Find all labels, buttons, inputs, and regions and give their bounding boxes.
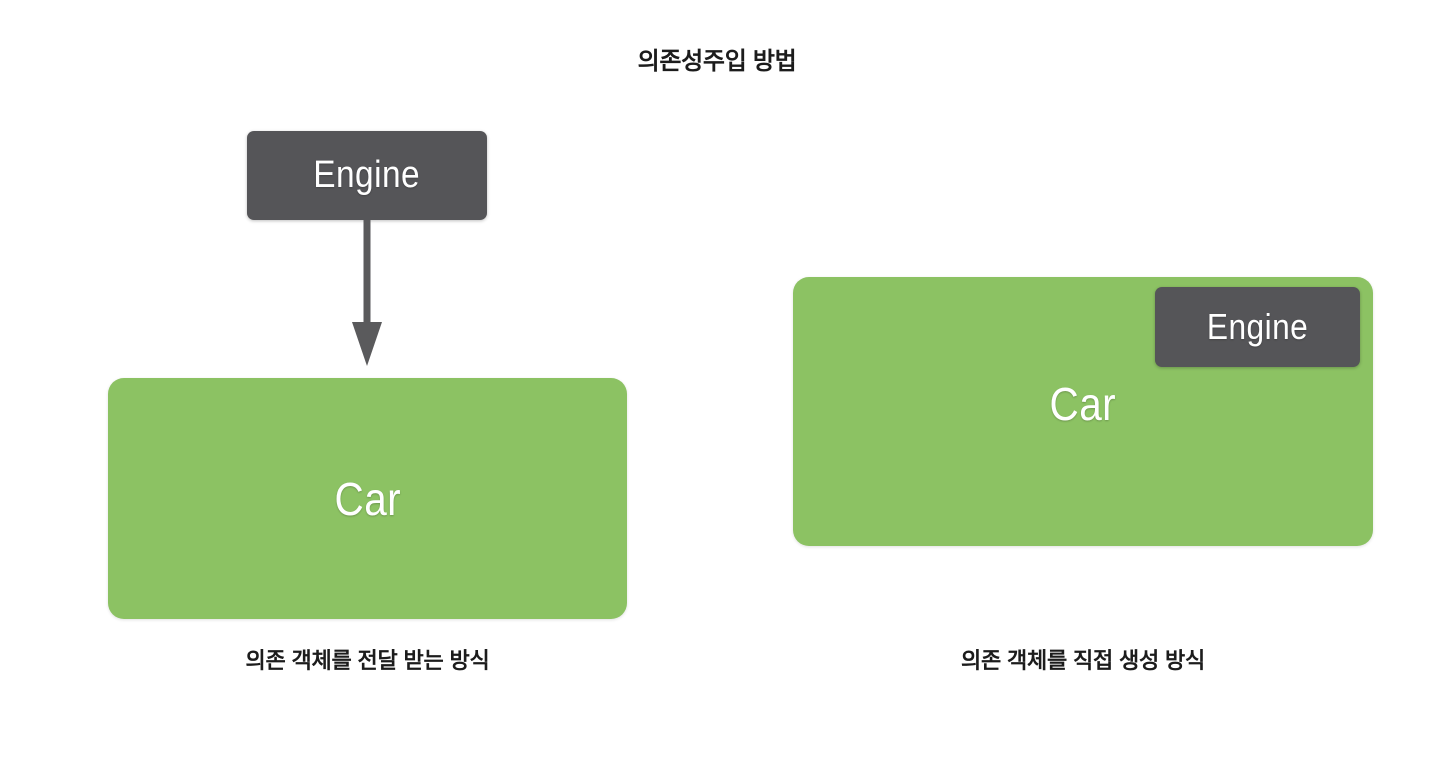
left-engine-label: Engine — [314, 154, 421, 197]
right-engine-label: Engine — [1207, 306, 1308, 348]
left-car-box: Car — [108, 378, 627, 619]
arrow-head — [352, 322, 382, 366]
left-caption: 의존 객체를 전달 받는 방식 — [108, 645, 627, 677]
diagram-canvas: 의존성주입 방법 Engine Car 의존 객체를 전달 받는 방식 Car … — [0, 0, 1434, 784]
right-caption: 의존 객체를 직접 생성 방식 — [793, 645, 1373, 677]
right-engine-box: Engine — [1155, 287, 1360, 367]
right-car-label: Car — [1050, 377, 1117, 431]
dependency-injection-arrow-icon — [340, 218, 394, 368]
left-car-label: Car — [334, 472, 401, 526]
page-title: 의존성주입 방법 — [0, 44, 1434, 80]
left-engine-box: Engine — [247, 131, 487, 220]
